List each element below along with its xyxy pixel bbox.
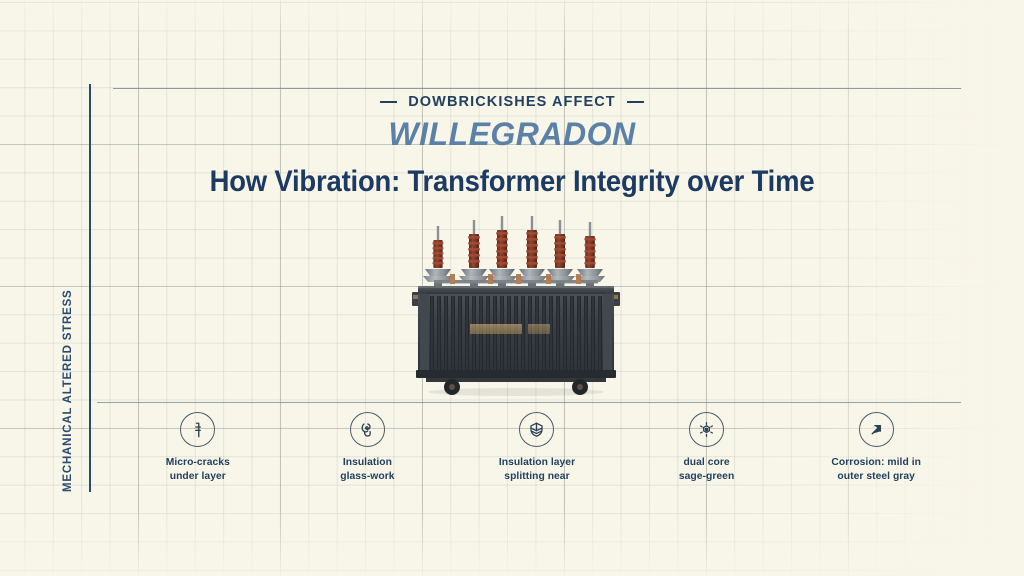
feature-item-insulation-splitting[interactable]: Insulation layer splitting near — [452, 412, 622, 483]
feature-item-micro-cracks[interactable]: Micro-cracks under layer — [113, 412, 283, 483]
bottom-divider-rule — [97, 402, 961, 403]
feature-item-dual-core[interactable]: dual core sage-green — [622, 412, 792, 483]
layered-shield-icon[interactable] — [519, 412, 554, 447]
bushing-pipework — [434, 274, 598, 284]
brand-title: WILLEGRADON — [0, 116, 1024, 153]
feature-label-line2: sage-green — [679, 470, 734, 484]
feature-label-corrosion: Corrosion: mild in outer steel gray — [831, 456, 921, 483]
feature-item-corrosion[interactable]: Corrosion: mild in outer steel gray — [791, 412, 961, 483]
eyebrow-dash-right-icon — [627, 101, 644, 103]
feature-label-dual-core: dual core sage-green — [679, 456, 734, 483]
feature-label-line1: Insulation layer — [499, 456, 575, 470]
feature-label-line2: outer steel gray — [831, 470, 921, 484]
eyebrow-text: DOWBRICKISHES AFFECT — [408, 94, 616, 110]
feature-label-insulation-splitting: Insulation layer splitting near — [499, 456, 575, 483]
vertical-side-label-text: MECHANICAL ALTERED STRESS — [62, 289, 74, 492]
feature-label-line1: dual core — [679, 456, 734, 470]
feature-label-line2: under layer — [166, 470, 230, 484]
transformer-illustration — [404, 212, 628, 402]
feature-item-insulation-glasswork[interactable]: Insulation glass-work — [283, 412, 453, 483]
eyebrow: DOWBRICKISHES AFFECT — [0, 94, 1024, 110]
feature-icon-row: Micro-cracks under layer Insulation glas… — [113, 412, 961, 483]
insulation-grip-icon[interactable] — [350, 412, 385, 447]
rating-nameplate — [470, 324, 550, 334]
eyebrow-dash-left-icon — [380, 101, 397, 103]
tank-base-skid — [416, 370, 616, 378]
feature-label-line1: Micro-cracks — [166, 456, 230, 470]
tank-right-post — [603, 294, 612, 372]
navigation-arrow-icon[interactable] — [859, 412, 894, 447]
feature-label-micro-cracks: Micro-cracks under layer — [166, 456, 230, 483]
header-block: DOWBRICKISHES AFFECT WILLEGRADON How Vib… — [0, 94, 1024, 199]
feature-label-line1: Insulation — [340, 456, 394, 470]
feature-label-line2: glass-work — [340, 470, 394, 484]
feature-label-insulation-glasswork: Insulation glass-work — [340, 456, 394, 483]
tank-left-post — [420, 294, 429, 372]
feature-label-line2: splitting near — [499, 470, 575, 484]
top-divider-rule — [113, 88, 961, 89]
dual-core-gear-icon[interactable] — [689, 412, 724, 447]
micro-crack-icon[interactable] — [180, 412, 215, 447]
feature-label-line1: Corrosion: mild in — [831, 456, 921, 470]
page-title: How Vibration: Transformer Integrity ove… — [36, 165, 988, 199]
